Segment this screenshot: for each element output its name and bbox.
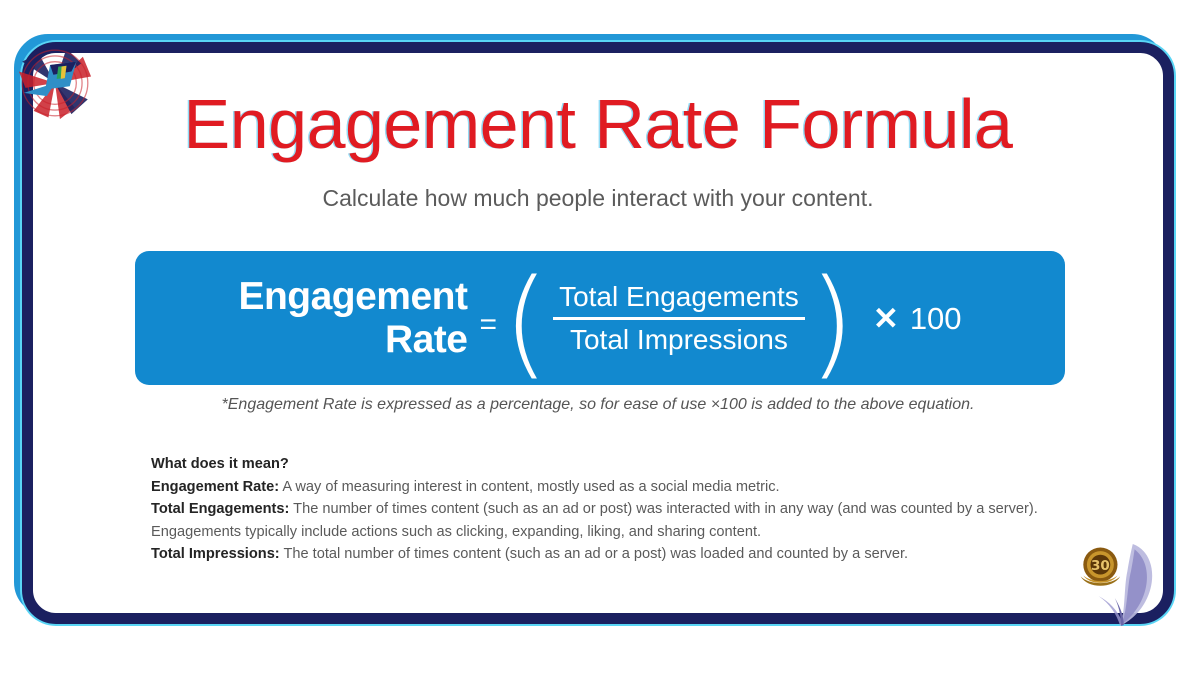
formula-panel: Engagement Rate = ( Total Engagements To… xyxy=(135,251,1065,385)
fraction: Total Engagements Total Impressions xyxy=(549,280,809,357)
multiply-icon: ✕ xyxy=(855,299,899,337)
multiplier-value: 100 xyxy=(899,299,962,337)
equals-sign: = xyxy=(469,294,503,342)
explainer-definition: A way of measuring interest in content, … xyxy=(279,479,779,495)
page-subtitle: Calculate how much people interact with … xyxy=(33,185,1163,212)
formula-left-label: Engagement Rate xyxy=(238,275,469,361)
explainer-definition: The total number of times content (such … xyxy=(280,546,908,562)
fraction-bar xyxy=(553,317,805,320)
pinwheel-star-logo-icon xyxy=(14,42,96,124)
explainer-heading: What does it mean? xyxy=(151,453,1061,476)
explainer-block: What does it mean? Engagement Rate: A wa… xyxy=(151,453,1061,566)
explainer-item: Total Engagements: The number of times c… xyxy=(151,498,1061,543)
formula-label-line-1: Engagement xyxy=(238,275,467,318)
page-title: Engagement Rate Formula xyxy=(33,86,1163,162)
explainer-term: Engagement Rate: xyxy=(151,479,279,495)
fraction-denominator: Total Impressions xyxy=(564,323,794,357)
fraction-numerator: Total Engagements xyxy=(553,280,805,314)
formula-footnote: *Engagement Rate is expressed as a perce… xyxy=(33,396,1163,414)
anniversary-feather-logo-icon: 30 xyxy=(1068,536,1176,632)
slide-content: Engagement Rate Formula Calculate how mu… xyxy=(33,53,1163,613)
explainer-item: Engagement Rate: A way of measuring inte… xyxy=(151,476,1061,499)
svg-text:30: 30 xyxy=(1091,558,1110,574)
explainer-item: Total Impressions: The total number of t… xyxy=(151,543,1061,566)
formula-label-line-2: Rate xyxy=(238,318,467,361)
explainer-term: Total Engagements: xyxy=(151,501,289,517)
explainer-term: Total Impressions: xyxy=(151,546,280,562)
